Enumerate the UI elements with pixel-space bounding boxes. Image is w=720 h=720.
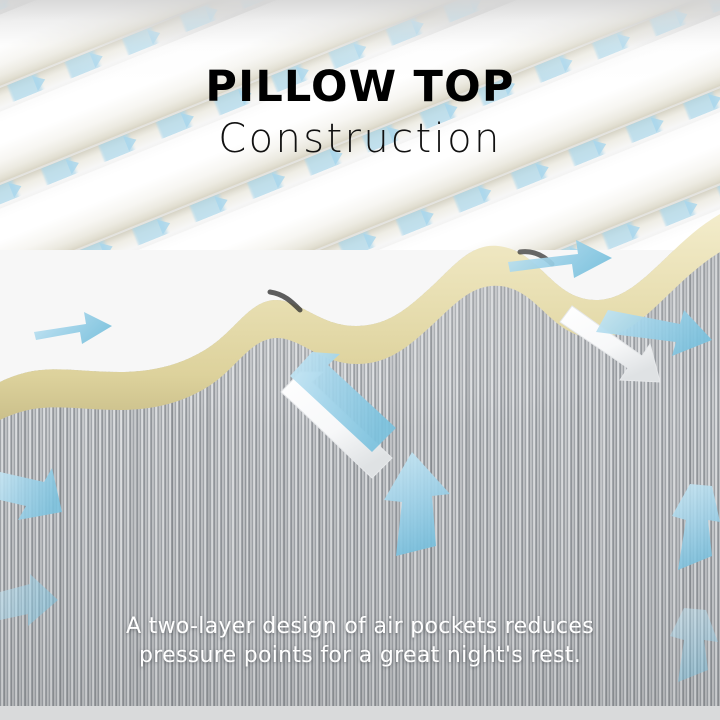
heading-block: PILLOW TOP Construction: [0, 66, 720, 160]
caption-line-1: A two-layer design of air pockets reduce…: [0, 612, 720, 641]
pillow-top-infographic: PILLOW TOP Construction A two-layer desi…: [0, 0, 720, 720]
page-subtitle: Construction: [0, 118, 720, 160]
caption-block: A two-layer design of air pockets reduce…: [0, 612, 720, 671]
bottom-border-strip: [0, 706, 720, 720]
page-title: PILLOW TOP: [0, 66, 720, 109]
caption-line-2: pressure points for a great night's rest…: [0, 641, 720, 670]
